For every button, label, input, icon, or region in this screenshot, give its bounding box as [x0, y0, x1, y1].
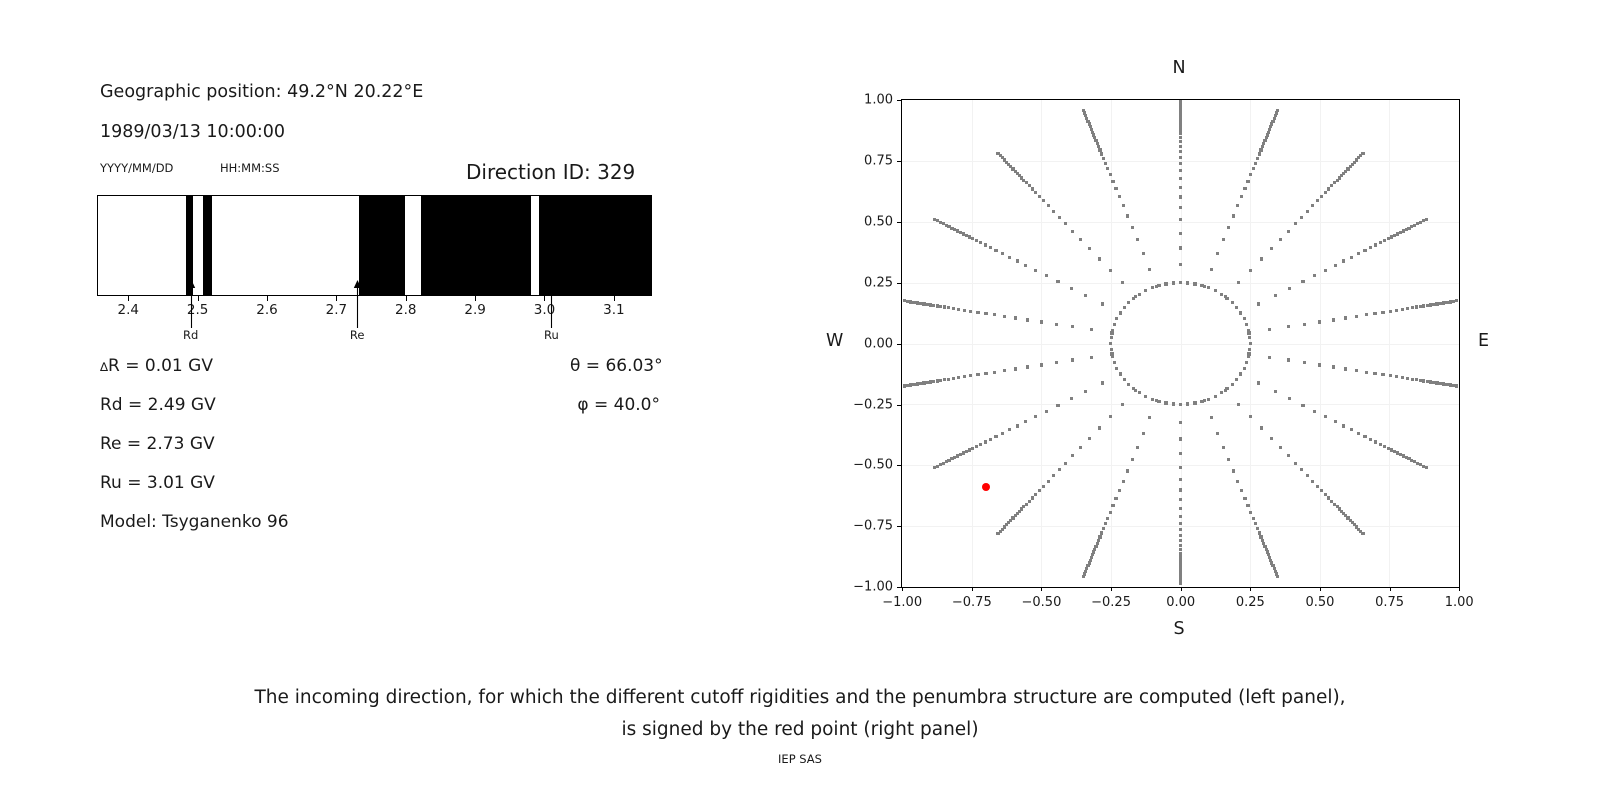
direction-point: [1109, 415, 1112, 418]
direction-point: [1038, 489, 1041, 492]
direction-point: [1275, 111, 1278, 114]
sky-map-plot: [901, 99, 1460, 588]
direction-point: [1214, 395, 1217, 398]
direction-point: [1115, 317, 1118, 320]
x-axis-tick: [972, 587, 973, 591]
direction-point: [1179, 108, 1182, 111]
direction-point: [1332, 365, 1335, 368]
direction-point: [1179, 102, 1182, 105]
direction-point: [1252, 517, 1255, 520]
y-axis-tick-label: 1.00: [835, 93, 893, 108]
direction-point: [1383, 239, 1386, 242]
direction-point: [1243, 317, 1246, 320]
direction-point: [965, 234, 968, 237]
direction-point: [947, 306, 950, 309]
selected-direction-point[interactable]: [982, 483, 990, 491]
direction-point: [1236, 204, 1239, 207]
penumbra-tick-label: 2.7: [326, 302, 347, 318]
gridline-horizontal: [902, 344, 1459, 345]
direction-point: [947, 378, 950, 381]
direction-point: [1179, 136, 1182, 139]
y-axis-tick-label: −0.75: [835, 519, 893, 534]
direction-point: [1270, 247, 1273, 250]
direction-point: [1243, 367, 1246, 370]
direction-point: [1070, 397, 1073, 400]
direction-point: [1313, 274, 1316, 277]
compass-label-north: N: [1173, 58, 1186, 78]
direction-point: [1363, 435, 1366, 438]
direction-point: [1266, 133, 1269, 136]
direction-point: [1245, 323, 1248, 326]
direction-point: [1361, 152, 1364, 155]
direction-point: [1236, 480, 1239, 483]
direction-point: [1207, 398, 1210, 401]
direction-point: [1111, 180, 1114, 183]
direction-point: [1056, 280, 1059, 283]
direction-point: [959, 231, 962, 234]
direction-point: [1164, 401, 1167, 404]
direction-point: [1389, 310, 1392, 313]
direction-point: [962, 232, 965, 235]
direction-point: [1273, 117, 1276, 120]
direction-point: [1083, 111, 1086, 114]
direction-point: [1239, 372, 1242, 375]
direction-point: [1344, 367, 1347, 370]
direction-point: [1231, 383, 1234, 386]
penumbra-marker-arrow-ru: [547, 280, 556, 328]
direction-point: [1342, 259, 1345, 262]
penumbra-axis: 2.42.52.62.72.82.93.03.1RdReRu: [97, 296, 652, 356]
direction-point: [1096, 142, 1099, 145]
direction-point: [1131, 458, 1134, 461]
direction-point: [1098, 148, 1101, 151]
direction-point: [950, 457, 953, 460]
compass-label-south: S: [1174, 619, 1185, 639]
direction-point: [1042, 485, 1045, 488]
direction-point: [1279, 238, 1282, 241]
direction-point: [1082, 109, 1085, 112]
direction-point: [1401, 308, 1404, 311]
direction-point: [1279, 446, 1282, 449]
direction-point: [1100, 152, 1103, 155]
y-axis-tick-label: 0.00: [835, 336, 893, 351]
direction-point: [1220, 391, 1223, 394]
direction-point: [1257, 381, 1260, 384]
direction-point: [947, 459, 950, 462]
direction-point: [1274, 294, 1277, 297]
direction-point: [1401, 376, 1404, 379]
x-axis-tick: [1320, 587, 1321, 591]
direction-point: [1265, 136, 1268, 139]
direction-point: [1248, 336, 1251, 339]
direction-point: [1164, 282, 1167, 285]
direction-point: [1092, 133, 1095, 136]
direction-point: [968, 235, 971, 238]
x-axis-tick-label: 0.50: [1305, 595, 1334, 610]
direction-point: [968, 448, 971, 451]
x-axis-tick-label: −0.50: [1022, 595, 1062, 610]
direction-point: [936, 219, 939, 222]
direction-point: [1254, 162, 1257, 165]
x-axis-tick-label: 0.25: [1236, 595, 1265, 610]
direction-point: [950, 227, 953, 230]
direction-point: [989, 246, 992, 249]
y-axis-tick-label: −0.50: [835, 458, 893, 473]
penumbra-tick: [406, 296, 407, 301]
direction-point: [1216, 252, 1219, 255]
direction-point: [1262, 142, 1265, 145]
direction-point: [1084, 390, 1087, 393]
direction-point: [1243, 187, 1246, 190]
x-axis-tick-label: 0.75: [1375, 595, 1404, 610]
direction-point: [1365, 313, 1368, 316]
direction-point: [1232, 469, 1235, 472]
x-axis-tick-label: −1.00: [882, 595, 922, 610]
direction-point: [1179, 123, 1182, 126]
direction-point: [1256, 157, 1259, 160]
direction-point: [984, 312, 987, 315]
direction-point: [996, 152, 999, 155]
direction-point: [1109, 173, 1112, 176]
direction-point: [1268, 356, 1271, 359]
direction-point: [1091, 131, 1094, 134]
angle-theta: θ = 66.03°: [570, 356, 660, 376]
direction-point: [1016, 424, 1019, 427]
direction-point: [1179, 145, 1182, 148]
direction-point: [1110, 336, 1113, 339]
penumbra-tick-label: 2.8: [395, 302, 416, 318]
direction-point: [1179, 100, 1182, 103]
direction-point: [1300, 216, 1303, 219]
direction-point: [1224, 295, 1227, 298]
penumbra-marker-label-rd: Rd: [183, 328, 198, 342]
direction-point: [936, 379, 939, 382]
x-axis-tick: [1181, 587, 1182, 591]
direction-point: [1369, 246, 1372, 249]
direction-point: [1288, 287, 1291, 290]
direction-point: [1324, 269, 1327, 272]
penumbra-tick: [198, 296, 199, 301]
direction-point: [1235, 378, 1238, 381]
direction-point: [1106, 517, 1109, 520]
gridline-horizontal: [902, 222, 1459, 223]
penumbra-marker-arrow-re: [353, 280, 362, 328]
direction-point: [1306, 474, 1309, 477]
direction-point: [1344, 316, 1347, 319]
direction-point: [1172, 281, 1175, 284]
direction-point: [1247, 331, 1250, 334]
direction-point: [1104, 522, 1107, 525]
direction-point: [1115, 367, 1118, 370]
direction-point: [1064, 222, 1067, 225]
direction-point: [952, 307, 955, 310]
direction-point: [919, 382, 922, 385]
direction-point: [1100, 531, 1103, 534]
direction-point: [1001, 252, 1004, 255]
direction-point: [1102, 527, 1105, 530]
direction-point: [1389, 374, 1392, 377]
direction-point: [1142, 252, 1145, 255]
angle-phi: φ = 40.0°: [570, 395, 660, 415]
x-axis-tick-label: 1.00: [1445, 595, 1474, 610]
direction-point: [1098, 257, 1101, 260]
direction-point: [1040, 363, 1043, 366]
direction-point: [1034, 415, 1037, 418]
caption-line-1: The incoming direction, for which the di…: [0, 682, 1600, 714]
direction-point: [979, 443, 982, 446]
direction-point: [1406, 377, 1409, 380]
direction-point: [947, 225, 950, 228]
direction-point: [1324, 415, 1327, 418]
direction-point: [916, 382, 919, 385]
direction-point: [1179, 403, 1182, 406]
direction-point: [1249, 415, 1252, 418]
direction-point: [1179, 452, 1182, 455]
direction-point: [1214, 289, 1217, 292]
direction-point: [1287, 454, 1290, 457]
direction-point: [1101, 302, 1104, 305]
direction-point: [1342, 424, 1345, 427]
direction-point: [945, 460, 948, 463]
direction-point: [1003, 315, 1006, 318]
direction-point: [1268, 128, 1271, 131]
direction-point: [963, 309, 966, 312]
direction-point: [1256, 527, 1259, 530]
direction-point: [1047, 480, 1050, 483]
footer-label: IEP SAS: [0, 752, 1600, 766]
direction-point: [1301, 404, 1304, 407]
direction-point: [1383, 445, 1386, 448]
direction-point: [1127, 383, 1130, 386]
direction-point: [1179, 218, 1182, 221]
direction-point: [1144, 289, 1147, 292]
direction-point: [1330, 184, 1333, 187]
direction-point: [1294, 222, 1297, 225]
y-axis-tick: [897, 526, 901, 527]
direction-point: [1109, 342, 1112, 345]
parameter-Ru: Ru = 3.01 GV: [100, 473, 215, 493]
parameter-text: Ru = 3.01 GV: [100, 473, 215, 493]
penumbra-forbidden-band: [203, 196, 212, 295]
direction-point: [945, 224, 948, 227]
direction-point: [1324, 191, 1327, 194]
direction-point: [939, 379, 942, 382]
direction-point: [1179, 150, 1182, 153]
direction-point: [957, 376, 960, 379]
direction-point: [1155, 285, 1158, 288]
direction-point: [1257, 302, 1260, 305]
direction-point: [1224, 389, 1227, 392]
direction-point: [1031, 187, 1034, 190]
direction-point: [1294, 462, 1297, 465]
direction-point: [1231, 301, 1234, 304]
direction-point: [1313, 410, 1316, 413]
direction-point: [1179, 117, 1182, 120]
y-axis-tick: [897, 283, 901, 284]
direction-point: [939, 463, 942, 466]
direction-point: [1034, 269, 1037, 272]
direction-point: [1064, 462, 1067, 465]
direction-point: [1026, 365, 1029, 368]
direction-point: [1179, 421, 1182, 424]
direction-point: [1246, 180, 1249, 183]
direction-point: [962, 451, 965, 454]
direction-point: [1014, 367, 1017, 370]
direction-point: [1268, 328, 1271, 331]
direction-point: [1288, 397, 1291, 400]
direction-point: [1179, 177, 1182, 180]
direction-point: [1227, 458, 1230, 461]
direction-point: [906, 300, 909, 303]
direction-point: [1220, 293, 1223, 296]
direction-point: [1014, 316, 1017, 319]
direction-point: [1210, 416, 1213, 419]
direction-point: [1395, 375, 1398, 378]
y-axis-tick-label: 0.75: [835, 154, 893, 169]
direction-point: [953, 228, 956, 231]
direction-point: [959, 453, 962, 456]
direction-point: [1318, 320, 1321, 323]
direction-point: [1084, 294, 1087, 297]
direction-point: [1126, 214, 1129, 217]
direction-point: [1210, 268, 1213, 271]
y-axis-tick: [897, 100, 901, 101]
direction-point: [1248, 348, 1251, 351]
direction-point: [1179, 281, 1182, 284]
direction-point: [1179, 478, 1182, 481]
direction-point: [1425, 218, 1428, 221]
direction-point: [1084, 114, 1087, 117]
direction-point: [1318, 363, 1321, 366]
direction-point: [1246, 504, 1249, 507]
direction-point: [1303, 323, 1306, 326]
direction-point: [909, 383, 912, 386]
direction-point: [1179, 120, 1182, 123]
direction-point: [1045, 410, 1048, 413]
direction-point: [1203, 285, 1206, 288]
direction-point: [1138, 293, 1141, 296]
direction-point: [984, 440, 987, 443]
direction-point: [1071, 358, 1074, 361]
direction-point: [1179, 105, 1182, 108]
direction-point: [963, 375, 966, 378]
direction-point: [969, 310, 972, 313]
direction-point: [1111, 504, 1114, 507]
direction-point: [1047, 204, 1050, 207]
direction-point: [1274, 114, 1277, 117]
direction-point: [1271, 120, 1274, 123]
direction-point: [1008, 428, 1011, 431]
direction-point: [1260, 426, 1263, 429]
direction-point: [1055, 361, 1058, 364]
direction-point: [1276, 109, 1279, 112]
model-label: Model: Tsyganenko 96: [100, 512, 289, 532]
direction-point: [1028, 500, 1031, 503]
direction-point: [903, 299, 906, 302]
direction-point: [1320, 489, 1323, 492]
direction-point: [1024, 264, 1027, 267]
direction-point: [1350, 256, 1353, 259]
direction-point: [1365, 371, 1368, 374]
direction-point: [1274, 390, 1277, 393]
direction-point: [1179, 466, 1182, 469]
direction-point: [1093, 136, 1096, 139]
caption-line-2: is signed by the red point (right panel): [0, 714, 1600, 746]
parameter-Re: Re = 2.73 GV: [100, 434, 215, 454]
direction-point: [1320, 195, 1323, 198]
direction-point: [1301, 280, 1304, 283]
direction-point: [1090, 356, 1093, 359]
direction-point: [993, 313, 996, 316]
direction-point: [1122, 204, 1125, 207]
direction-point: [1232, 214, 1235, 217]
direction-point: [953, 456, 956, 459]
penumbra-tick-label: 2.4: [117, 302, 138, 318]
direction-point: [1237, 281, 1240, 284]
direction-point: [1334, 420, 1337, 423]
direction-point: [1373, 312, 1376, 315]
direction-point: [1276, 575, 1279, 578]
direction-point: [1258, 152, 1261, 155]
direction-point: [1263, 139, 1266, 142]
direction-point: [1193, 401, 1196, 404]
direction-point: [936, 465, 939, 468]
direction-point: [1267, 131, 1270, 134]
direction-point: [1332, 318, 1335, 321]
direction-point: [1260, 257, 1263, 260]
direction-point: [1239, 311, 1242, 314]
direction-point: [943, 305, 946, 308]
x-axis-tick: [1111, 587, 1112, 591]
direction-point: [1350, 428, 1353, 431]
direction-point: [1055, 323, 1058, 326]
direction-point: [1179, 162, 1182, 165]
y-axis-tick: [897, 405, 901, 406]
direction-point: [1142, 432, 1145, 435]
direction-point: [1327, 187, 1330, 190]
direction-point: [1071, 454, 1074, 457]
x-axis-tick-label: −0.25: [1091, 595, 1131, 610]
direction-point: [1131, 226, 1134, 229]
direction-point: [965, 450, 968, 453]
direction-point: [984, 372, 987, 375]
direction-point: [1138, 391, 1141, 394]
parameter-text: R = 0.01 GV: [108, 356, 213, 376]
direction-point: [1381, 311, 1384, 314]
direction-point: [1357, 432, 1360, 435]
direction-point: [1179, 114, 1182, 117]
gridline-horizontal: [902, 526, 1459, 527]
direction-point: [929, 303, 932, 306]
direction-point: [1003, 369, 1006, 372]
direction-point: [1249, 269, 1252, 272]
direction-point: [922, 381, 925, 384]
direction-point: [996, 532, 999, 535]
direction-point: [1186, 281, 1189, 284]
direction-point: [1252, 167, 1255, 170]
direction-point: [1415, 378, 1418, 381]
direction-point: [1179, 232, 1182, 235]
direction-point: [1001, 432, 1004, 435]
sky-map-points-area: [902, 100, 1459, 587]
direction-point: [1249, 173, 1252, 176]
direction-point: [912, 301, 915, 304]
direction-point: [1110, 348, 1113, 351]
penumbra-marker-label-re: Re: [350, 328, 365, 342]
direction-point: [1355, 315, 1358, 318]
direction-point: [1109, 511, 1112, 514]
direction-point: [912, 383, 915, 386]
